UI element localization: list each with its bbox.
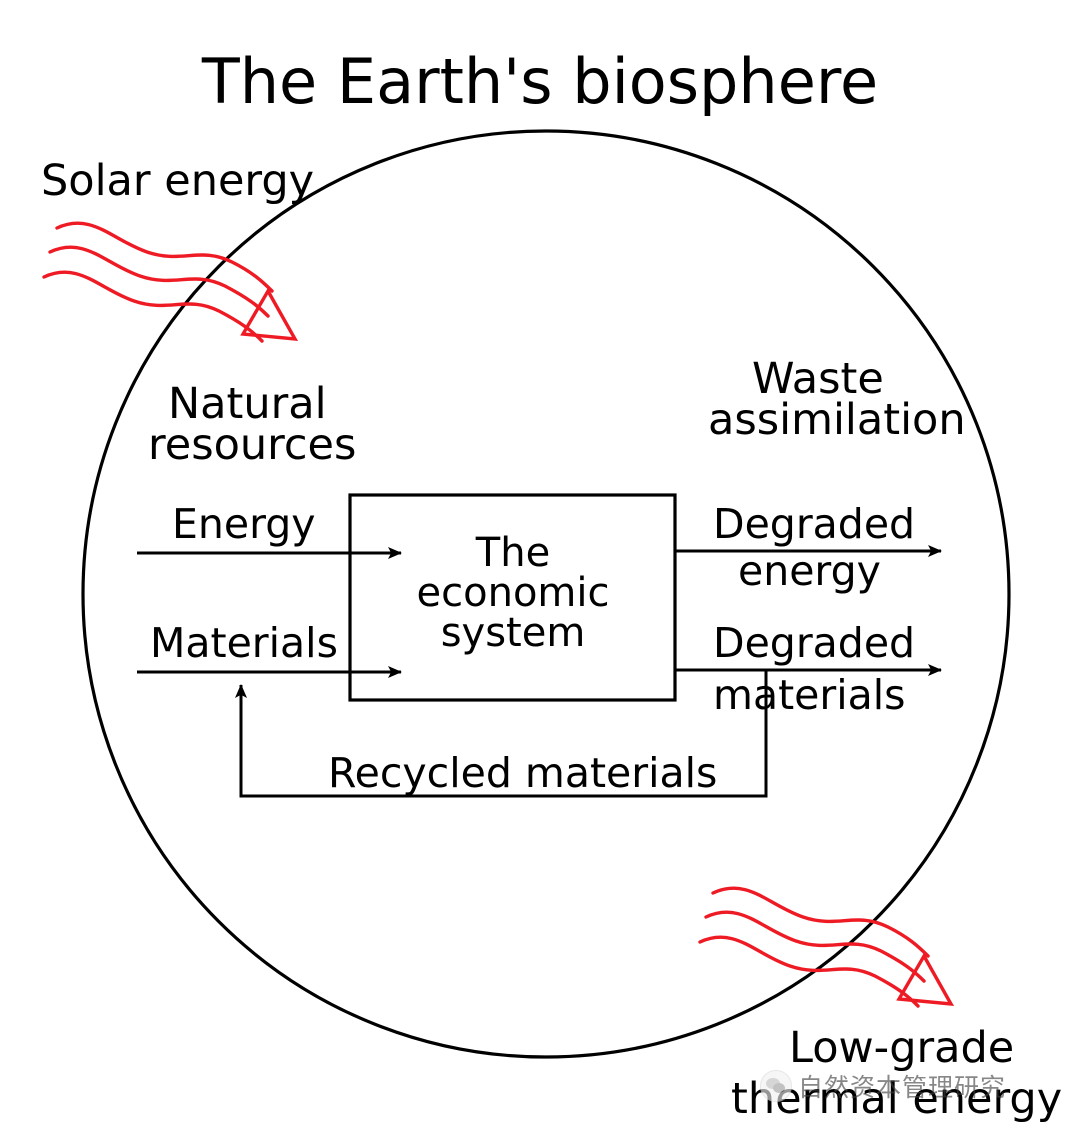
energy-input-label: Energy [172,500,316,548]
diagram-canvas: The Earth's biosphere Solar energy Natur… [0,0,1080,1134]
degraded-energy-label-line2: energy [738,547,881,595]
page-title: The Earth's biosphere [201,45,878,118]
solar-energy-label: Solar energy [41,156,314,206]
degraded-energy-label-line1: Degraded [713,500,915,548]
recycled-materials-label: Recycled materials [328,749,717,797]
thermal-energy-label-line1: Low-grade [789,1023,1014,1073]
thermal-energy-rays [700,888,951,1006]
economic-system-label-line3: system [441,610,586,656]
materials-input-label: Materials [150,619,338,667]
degraded-materials-label-line2: materials [713,671,906,719]
biosphere-diagram: The Earth's biosphere Solar energy Natur… [0,0,1080,1134]
waste-assimilation-label-line2: assimilation [708,395,966,445]
degraded-materials-label-line1: Degraded [713,619,915,667]
thermal-energy-label-line2: thermal energy [731,1074,1062,1124]
natural-resources-label-line2: resources [148,420,356,470]
